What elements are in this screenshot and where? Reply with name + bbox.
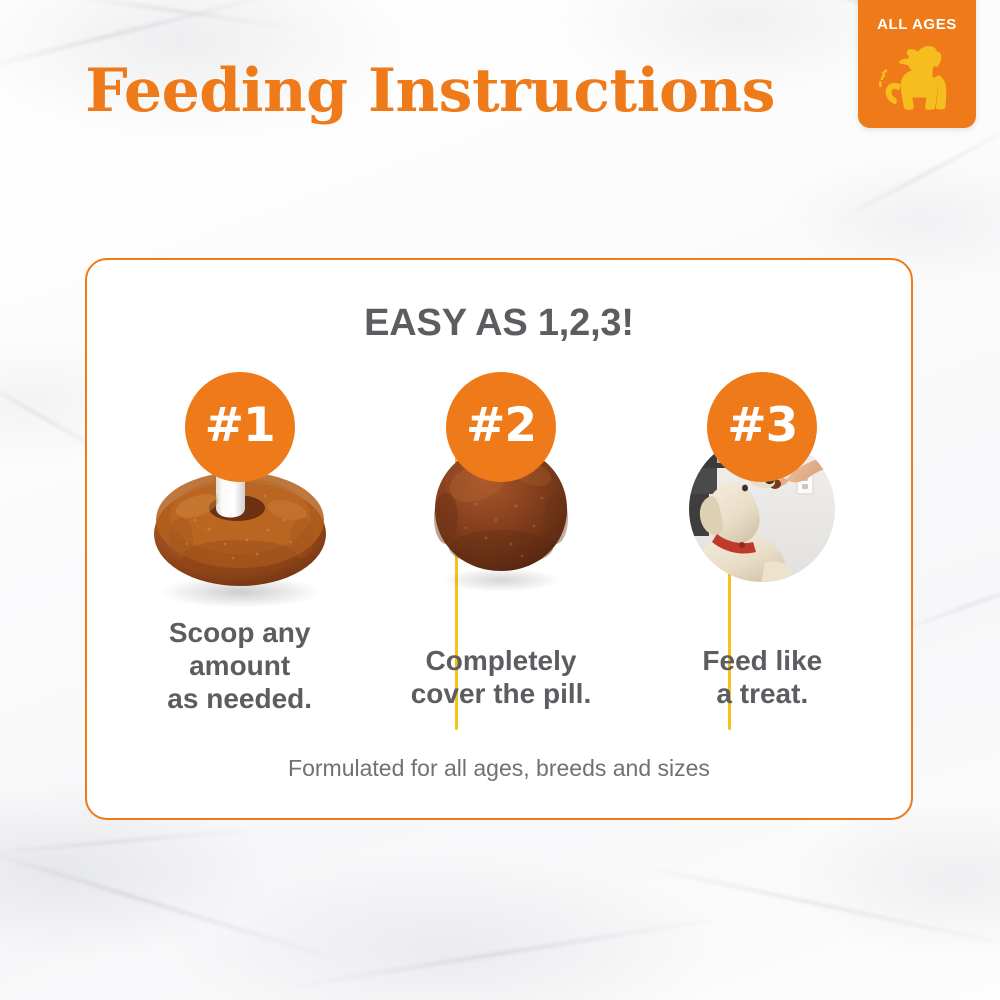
instructions-card: EASY AS 1,2,3! [85, 258, 913, 820]
marble-vein [283, 914, 738, 990]
step-3: #3 Feed like a treat. [632, 372, 893, 732]
poster-canvas: Feeding Instructions ALL AGES [0, 0, 1000, 1000]
step-caption-2: Completely cover the pill. [370, 644, 631, 710]
sitting-dog-icon [874, 40, 960, 119]
card-footer-text: Formulated for all ages, breeds and size… [87, 755, 911, 782]
step-1: #1 Scoop any amount as needed. [109, 372, 370, 732]
card-heading: EASY AS 1,2,3! [87, 302, 911, 345]
step-badge-label: #2 [466, 402, 536, 449]
page-title: Feeding Instructions [0, 56, 860, 126]
step-badge-2: #2 [446, 372, 556, 482]
all-ages-badge-label: ALL AGES [858, 16, 976, 33]
step-caption-3: Feed like a treat. [632, 644, 893, 710]
marble-vein [0, 839, 351, 966]
step-badge-3: #3 [707, 372, 817, 482]
step-badge-label: #3 [727, 402, 797, 449]
marble-vein [0, 827, 270, 856]
all-ages-badge: ALL AGES [858, 0, 976, 128]
marble-vein [624, 861, 1000, 951]
step-badge-1: #1 [185, 372, 295, 482]
marble-vein [832, 119, 1000, 225]
steps-row: #1 Scoop any amount as needed. [109, 372, 893, 732]
step-2: #2 Completely cover the pill. [370, 372, 631, 732]
marble-vein [61, 0, 299, 30]
step-badge-label: #1 [205, 402, 275, 449]
step-caption-1: Scoop any amount as needed. [109, 616, 370, 715]
